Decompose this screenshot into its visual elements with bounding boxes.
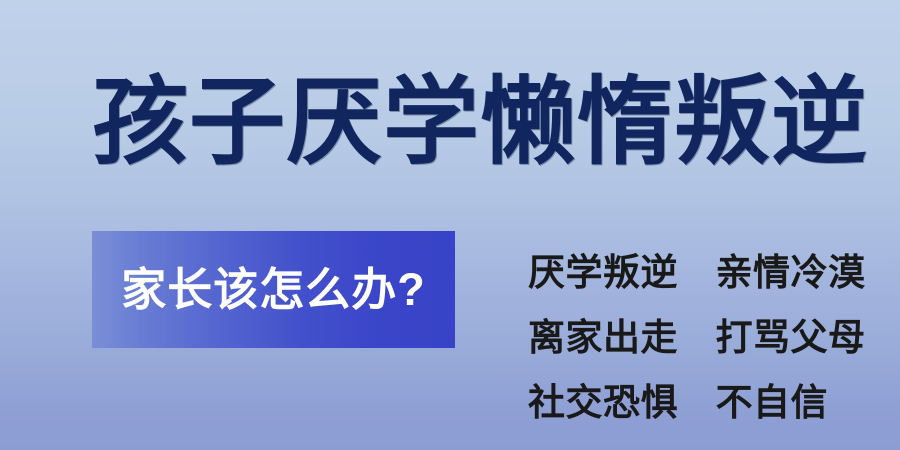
list-item: 离家出走 打骂父母 [528, 305, 848, 370]
headline-segment-1: 孩子厌学 [92, 68, 480, 178]
callout-label: 家长该怎么办? [121, 264, 426, 316]
list-item: 社交恐惧 不自信 [528, 370, 848, 435]
callout-box: 家长该怎么办? [92, 231, 455, 348]
symptom-right-2: 打骂父母 [716, 317, 866, 358]
headline-segment-3: 叛逆 [674, 68, 868, 178]
symptom-right-1: 亲情冷漠 [716, 252, 866, 293]
list-item: 厌学叛逆 亲情冷漠 [528, 240, 848, 305]
poster-canvas: 孩子厌学 懒惰 叛逆 家长该怎么办? 厌学叛逆 亲情冷漠 离家出走 打骂父母 社… [0, 0, 900, 450]
page-title: 孩子厌学 懒惰 叛逆 [92, 62, 832, 184]
symptom-right-3: 不自信 [716, 382, 829, 423]
symptom-left-1: 厌学叛逆 [528, 252, 678, 293]
headline-segment-2: 懒惰 [480, 68, 674, 178]
symptom-left-3: 社交恐惧 [528, 382, 678, 423]
symptom-left-2: 离家出走 [528, 317, 678, 358]
symptom-list: 厌学叛逆 亲情冷漠 离家出走 打骂父母 社交恐惧 不自信 [528, 240, 848, 435]
